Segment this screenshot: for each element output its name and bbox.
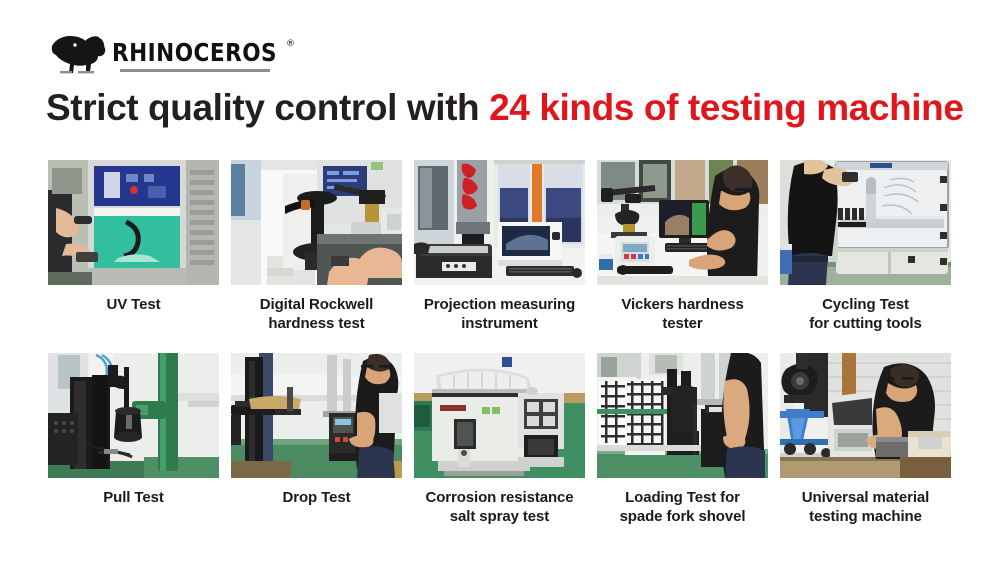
gallery-item-caption: Loading Test for spade fork shovel — [597, 489, 768, 527]
gallery-item[interactable]: Vickers hardness tester — [597, 160, 768, 334]
logo-underline — [120, 69, 270, 72]
salt-spray-chamber-photo — [414, 353, 585, 478]
gallery-item-caption: Digital Rockwell hardness test — [231, 296, 402, 334]
projection-measuring-instrument-photo — [414, 160, 585, 285]
slide-root: RHINOCEROS ® Strict quality control with… — [0, 0, 1000, 562]
gallery-item-caption: UV Test — [48, 296, 219, 315]
gallery-item[interactable]: UV Test — [48, 160, 219, 315]
caption-line-1: Cycling Test — [822, 296, 909, 313]
gallery-item[interactable]: Pull Test — [48, 353, 219, 508]
page-title-highlight: 24 kinds of testing machine — [489, 87, 963, 128]
caption-line-1: Vickers hardness — [621, 296, 743, 313]
vickers-hardness-tester-photo — [597, 160, 768, 285]
caption-line-1: Drop Test — [283, 489, 351, 506]
pull-test-rig-photo — [48, 353, 219, 478]
testing-machine-gallery: UV Test — [0, 160, 1000, 546]
universal-material-testing-machine-photo — [780, 353, 951, 478]
loading-test-spade-fork-shovel-photo — [597, 353, 768, 478]
gallery-item-caption: Pull Test — [48, 489, 219, 508]
caption-line-1: Digital Rockwell — [260, 296, 373, 313]
gallery-item[interactable]: Corrosion resistance salt spray test — [414, 353, 585, 527]
gallery-item-caption: Cycling Test for cutting tools — [780, 296, 951, 334]
gallery-row: UV Test — [0, 160, 1000, 353]
caption-line-2: for cutting tools — [809, 315, 921, 332]
gallery-item-caption: Drop Test — [231, 489, 402, 508]
caption-line-2: salt spray test — [450, 508, 549, 525]
page-title-plain: Strict quality control with — [46, 87, 489, 128]
gallery-row: Pull Test — [0, 353, 1000, 546]
gallery-item[interactable]: Projection measuring instrument — [414, 160, 585, 334]
caption-line-1: Corrosion resistance — [425, 489, 573, 506]
caption-line-2: spade fork shovel — [620, 508, 746, 525]
caption-line-1: Loading Test for — [625, 489, 740, 506]
uv-test-chamber-photo — [48, 160, 219, 285]
caption-line-2: hardness test — [268, 315, 364, 332]
gallery-item[interactable]: Loading Test for spade fork shovel — [597, 353, 768, 527]
caption-line-2: testing machine — [809, 508, 922, 525]
brand-name: RHINOCEROS — [112, 40, 277, 65]
rhinoceros-logo-icon — [48, 28, 110, 76]
gallery-item-caption: Universal material testing machine — [780, 489, 951, 527]
cycling-test-cutting-tools-photo — [780, 160, 951, 285]
gallery-item[interactable]: Digital Rockwell hardness test — [231, 160, 402, 334]
gallery-item-caption: Projection measuring instrument — [414, 296, 585, 334]
drop-test-rig-photo — [231, 353, 402, 478]
gallery-item[interactable]: Universal material testing machine — [780, 353, 951, 527]
gallery-item[interactable]: Drop Test — [231, 353, 402, 508]
caption-line-1: Projection measuring — [424, 296, 575, 313]
brand-logo: RHINOCEROS ® — [48, 26, 258, 78]
gallery-item[interactable]: Cycling Test for cutting tools — [780, 160, 951, 334]
gallery-item-caption: Vickers hardness tester — [597, 296, 768, 334]
registered-mark: ® — [286, 39, 295, 49]
caption-line-1: Pull Test — [103, 489, 164, 506]
caption-line-2: instrument — [461, 315, 538, 332]
digital-rockwell-hardness-tester-photo — [231, 160, 402, 285]
caption-line-1: Universal material — [802, 489, 929, 506]
caption-line-2: tester — [662, 315, 702, 332]
caption-line-1: UV Test — [106, 296, 160, 313]
gallery-item-caption: Corrosion resistance salt spray test — [414, 489, 585, 527]
brand-wordmark: RHINOCEROS ® — [112, 40, 284, 65]
page-title: Strict quality control with 24 kinds of … — [46, 88, 966, 129]
